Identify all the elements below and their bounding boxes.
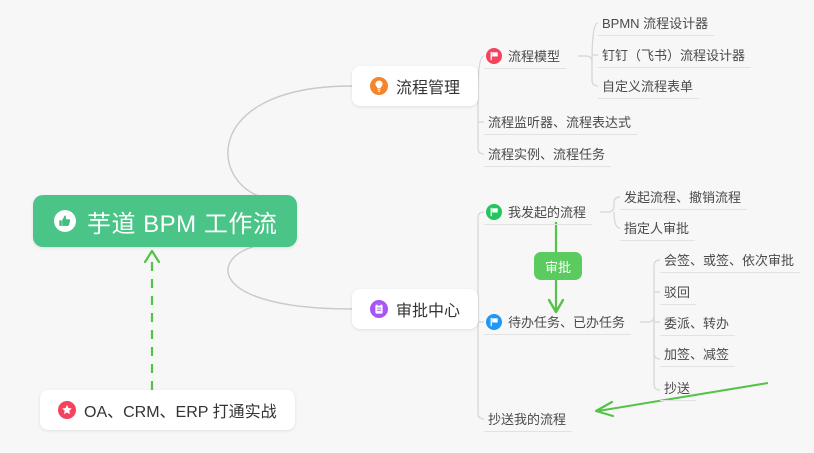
leaf-assignee-approval-label: 指定人审批 xyxy=(624,218,689,237)
link-root-to-approval-center xyxy=(228,243,352,309)
node-my-started-processes[interactable]: 我发起的流程 xyxy=(484,199,592,225)
root-node-label: 芋道 BPM 工作流 xyxy=(87,204,277,239)
leaf-cc[interactable]: 抄送 xyxy=(660,375,696,401)
node-process-instance-task[interactable]: 流程实例、流程任务 xyxy=(484,141,611,167)
mindmap-canvas: 芋道 BPM 工作流 流程管理 流程模型 BPMN 流程设计器 钉钉（飞书）流程 xyxy=(0,0,814,453)
dashed-up-arrow-head xyxy=(145,251,159,262)
flag-icon xyxy=(486,48,502,64)
star-icon xyxy=(58,401,76,419)
link-root-to-process-management xyxy=(228,86,352,200)
flag-icon xyxy=(486,204,502,220)
branch-node-approval-center-label: 审批中心 xyxy=(396,297,460,321)
node-cc-to-me-processes-label: 抄送我的流程 xyxy=(488,409,566,428)
node-my-started-processes-label: 我发起的流程 xyxy=(508,202,586,221)
node-cc-to-me-processes[interactable]: 抄送我的流程 xyxy=(484,406,572,432)
leaf-bpmn-designer-label: BPMN 流程设计器 xyxy=(602,13,708,32)
leaf-dingtalk-feishu-designer-label: 钉钉（飞书）流程设计器 xyxy=(602,45,745,64)
leaf-add-remove-sign-label: 加签、减签 xyxy=(664,344,729,363)
leaf-reject-label: 驳回 xyxy=(664,282,690,301)
leaf-custom-process-form-label: 自定义流程表单 xyxy=(602,76,693,95)
leaf-start-cancel-process[interactable]: 发起流程、撤销流程 xyxy=(620,184,747,210)
bottom-note-node[interactable]: OA、CRM、ERP 打通实战 xyxy=(40,390,295,430)
leaf-cc-label: 抄送 xyxy=(664,378,690,397)
link-process-model-trunk xyxy=(578,56,598,86)
leaf-bpmn-designer[interactable]: BPMN 流程设计器 xyxy=(598,10,714,36)
root-node[interactable]: 芋道 BPM 工作流 xyxy=(33,195,297,247)
approval-tag-label: 审批 xyxy=(545,257,571,276)
leaf-reject[interactable]: 驳回 xyxy=(660,279,696,305)
approval-tag-node[interactable]: 审批 xyxy=(534,252,582,280)
leaf-delegate-transfer[interactable]: 委派、转办 xyxy=(660,310,735,336)
flag-icon xyxy=(486,314,502,330)
leaf-assignee-approval[interactable]: 指定人审批 xyxy=(620,215,695,241)
node-process-model-label: 流程模型 xyxy=(508,46,560,65)
thumbs-up-icon xyxy=(53,209,77,233)
node-process-listener-expression[interactable]: 流程监听器、流程表达式 xyxy=(484,109,637,135)
node-process-instance-task-label: 流程实例、流程任务 xyxy=(488,144,605,163)
node-todo-done-tasks-label: 待办任务、已办任务 xyxy=(508,312,625,331)
lightbulb-icon xyxy=(370,77,388,95)
leaf-countersign-or-sign-sequential[interactable]: 会签、或签、依次审批 xyxy=(660,247,800,273)
branch-node-process-management[interactable]: 流程管理 xyxy=(352,66,478,106)
leaf-start-cancel-process-label: 发起流程、撤销流程 xyxy=(624,187,741,206)
link-todo-trunk xyxy=(640,260,660,322)
cc-pointer-arrow-head xyxy=(596,402,613,416)
node-todo-done-tasks[interactable]: 待办任务、已办任务 xyxy=(484,309,631,335)
leaf-add-remove-sign[interactable]: 加签、减签 xyxy=(660,341,735,367)
clipboard-icon xyxy=(370,300,388,318)
link-my-started-trunk xyxy=(600,197,620,212)
node-process-model[interactable]: 流程模型 xyxy=(484,43,566,69)
leaf-countersign-or-sign-sequential-label: 会签、或签、依次审批 xyxy=(664,250,794,269)
leaf-delegate-transfer-label: 委派、转办 xyxy=(664,313,729,332)
node-process-listener-expression-label: 流程监听器、流程表达式 xyxy=(488,112,631,131)
branch-node-process-management-label: 流程管理 xyxy=(396,74,460,98)
branch-node-approval-center[interactable]: 审批中心 xyxy=(352,289,478,329)
leaf-dingtalk-feishu-designer[interactable]: 钉钉（飞书）流程设计器 xyxy=(598,42,751,68)
bottom-note-label: OA、CRM、ERP 打通实战 xyxy=(84,398,277,422)
leaf-custom-process-form[interactable]: 自定义流程表单 xyxy=(598,73,699,99)
